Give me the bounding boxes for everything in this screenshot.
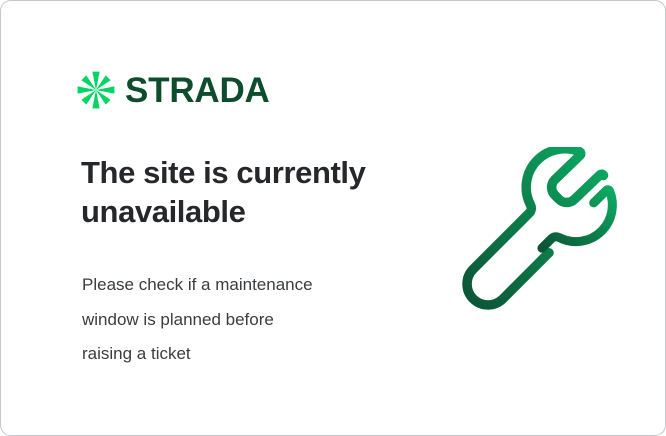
wrench-icon [453,147,619,313]
description-line: raising a ticket [82,337,402,372]
status-description: Please check if a maintenance window is … [82,268,402,372]
brand-lockup: STRADA [76,70,270,110]
description-line: Please check if a maintenance [82,268,402,303]
description-line: window is planned before [82,303,402,338]
status-card: STRADA The site is currently unavailable… [0,0,666,436]
page-title: The site is currently unavailable [81,153,411,231]
brand-wordmark: STRADA [125,73,270,108]
strada-asterisk-icon [76,70,116,110]
